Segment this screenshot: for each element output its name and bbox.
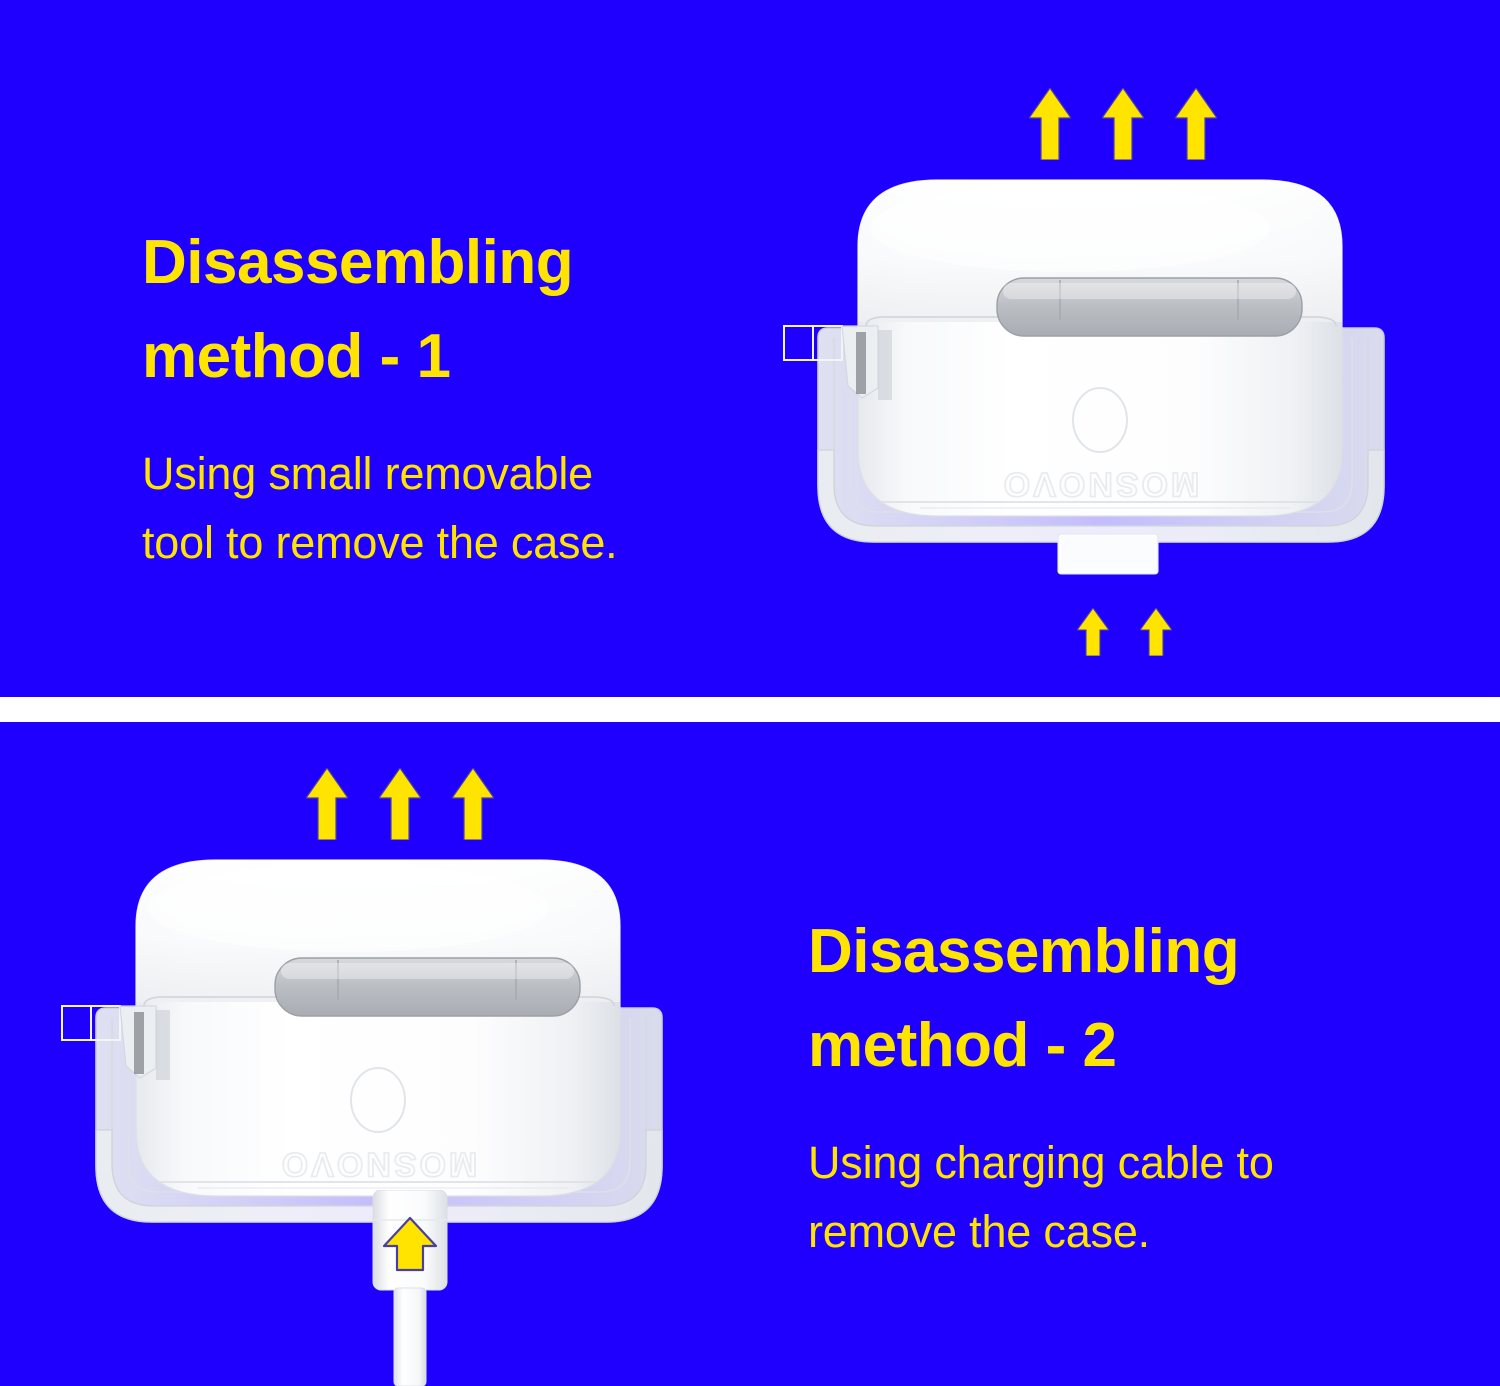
brand-emboss: MOSNOVO xyxy=(279,1145,478,1183)
panel-title: Disassembling method - 2 xyxy=(808,905,1274,1093)
hinge-bar-icon xyxy=(275,958,580,1016)
text-block-method-1: Disassembling method - 1 Using small rem… xyxy=(142,216,617,577)
panel-title: Disassembling method - 1 xyxy=(142,216,617,404)
charging-cable xyxy=(350,1190,470,1386)
hinge-bar-icon xyxy=(997,278,1302,336)
panel-method-2: Disassembling method - 2 Using charging … xyxy=(0,722,1500,1386)
panel-subtitle: Using charging cable to remove the case. xyxy=(808,1093,1274,1266)
arrow-up-icon xyxy=(1077,608,1109,656)
panel-divider xyxy=(0,697,1500,722)
panel-subtitle: Using small removable tool to remove the… xyxy=(142,404,617,577)
brand-emboss: MOSNOVO xyxy=(1001,465,1200,503)
airpods-case-assembly: MOSNOVO xyxy=(770,150,1430,590)
panel-method-1: Disassembling method - 1 Using small rem… xyxy=(0,0,1500,697)
cable-wire xyxy=(394,1288,426,1386)
instruction-graphic: Disassembling method - 1 Using small rem… xyxy=(0,0,1500,1386)
text-block-method-2: Disassembling method - 2 Using charging … xyxy=(808,905,1274,1266)
charging-port-cutout xyxy=(1058,534,1158,574)
arrow-up-icon xyxy=(1140,608,1172,656)
